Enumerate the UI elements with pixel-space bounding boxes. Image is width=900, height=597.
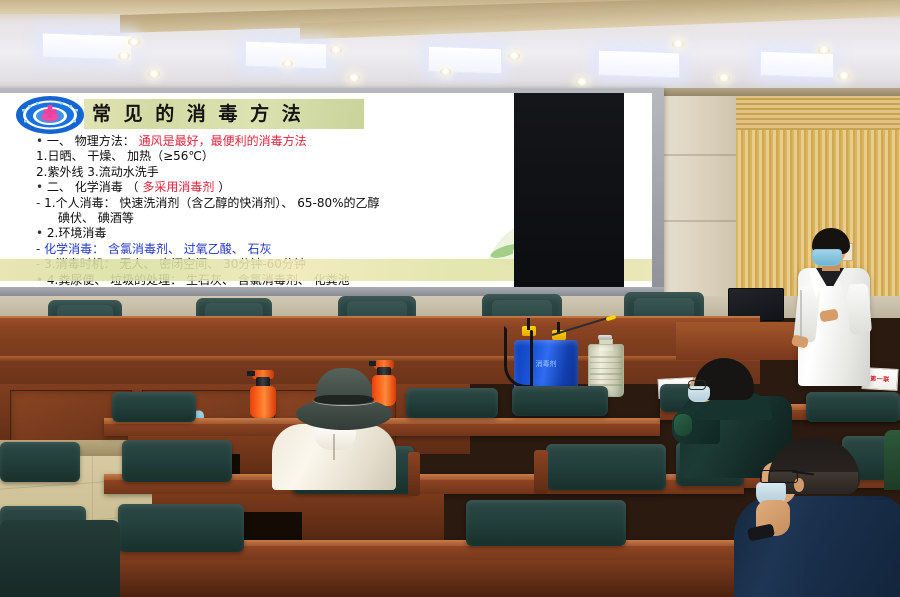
slide-line-4-suffix: ） (218, 180, 230, 194)
audience-chair-r3-1[interactable] (122, 440, 232, 482)
audience-chair-r2-3[interactable] (512, 386, 608, 416)
bullet-8: - (36, 242, 40, 256)
downlight-1 (128, 38, 140, 46)
ceiling-panel-light-5 (760, 51, 834, 79)
audience-chair-r3-3[interactable] (546, 444, 666, 490)
downlight-7 (508, 52, 520, 60)
sprayer-hose-vertical (530, 330, 533, 394)
bullet-7: • (36, 226, 43, 240)
downlight-13 (838, 72, 850, 80)
downlight-9 (576, 78, 588, 86)
bullet-4: • (36, 180, 43, 194)
presenter-face-mask (812, 249, 842, 266)
hat-stitch (312, 393, 378, 406)
downlight-2 (118, 52, 130, 60)
downlight-8 (440, 68, 451, 75)
audience-chair-r4-3[interactable] (466, 500, 626, 546)
audience-chair-r3-3-arm (534, 450, 548, 494)
downlight-10 (672, 40, 684, 48)
audience-chair-r2-1[interactable] (112, 392, 196, 422)
presenter-arm-right (846, 283, 872, 335)
pillar-seam-1 (660, 154, 738, 156)
audience-chair-r2-2[interactable] (406, 388, 498, 418)
spray-bottle-left[interactable] (250, 368, 276, 418)
attendee-middle-glasses (688, 380, 706, 390)
slide-line-4-emphasis: 多采用消毒剂 (142, 180, 214, 194)
wall-pillar (660, 96, 738, 311)
audience-chair-r4-2[interactable] (118, 504, 244, 552)
pillar-seam-2 (660, 220, 738, 222)
downlight-11 (718, 74, 730, 82)
attendee-cream-coat-seam (333, 434, 335, 460)
attendee-right-edge (884, 430, 900, 490)
attendee-front-right-shoulder (804, 500, 900, 597)
slide-line-7-text: 2.环境消毒 (47, 226, 106, 240)
downlight-5 (282, 60, 293, 67)
presenter-coat-seam (800, 290, 802, 342)
bullet-1: • (36, 134, 43, 148)
audience-desk-row4-front (106, 560, 806, 597)
ceiling-panel-light-4 (598, 50, 680, 79)
slide-line-8-text: 化学消毒： 含氯消毒剂、 过氧乙酸、 石灰 (44, 242, 271, 256)
downlight-4 (330, 46, 342, 54)
bullet-5: - (36, 196, 40, 210)
spray-bottle-right-nozzle (369, 361, 376, 366)
downlight-12 (818, 46, 830, 54)
wall-slat-paneling-top (736, 96, 900, 130)
slide-line-4-text: 二、 化学消毒 （ (47, 180, 139, 194)
downlight-6 (348, 74, 360, 82)
attendee-middle-sleeve-patch (674, 414, 692, 436)
slide-line-1-text: 一、 物理方法： (47, 134, 135, 148)
audience-chair-r3-2-arm (408, 452, 420, 496)
audience-chair-r3-0[interactable] (0, 442, 80, 482)
wide-brim-hat (296, 368, 392, 430)
slide-line-5-text: 1.个人消毒： 快速洗消剂（含乙醇的快消剂）、 65-80%的乙醇 (44, 196, 379, 210)
hospital-emblem-icon (14, 95, 86, 135)
foreground-chair[interactable] (0, 520, 120, 597)
slide-title: 常 见 的 消 毒 方 法 (92, 100, 368, 128)
attendee-front-right (734, 438, 900, 597)
projection-screen-dark-area (514, 93, 624, 289)
downlight-3 (148, 70, 160, 78)
slide-line-1-emphasis: 通风是最好，最便利的消毒方法 (139, 134, 307, 148)
conference-hall-photo: 常 见 的 消 毒 方 法 • 一、 物理方法： 通风是最好，最便利的消毒方法 … (0, 0, 900, 597)
spray-bottle-left-nozzle (247, 371, 255, 376)
